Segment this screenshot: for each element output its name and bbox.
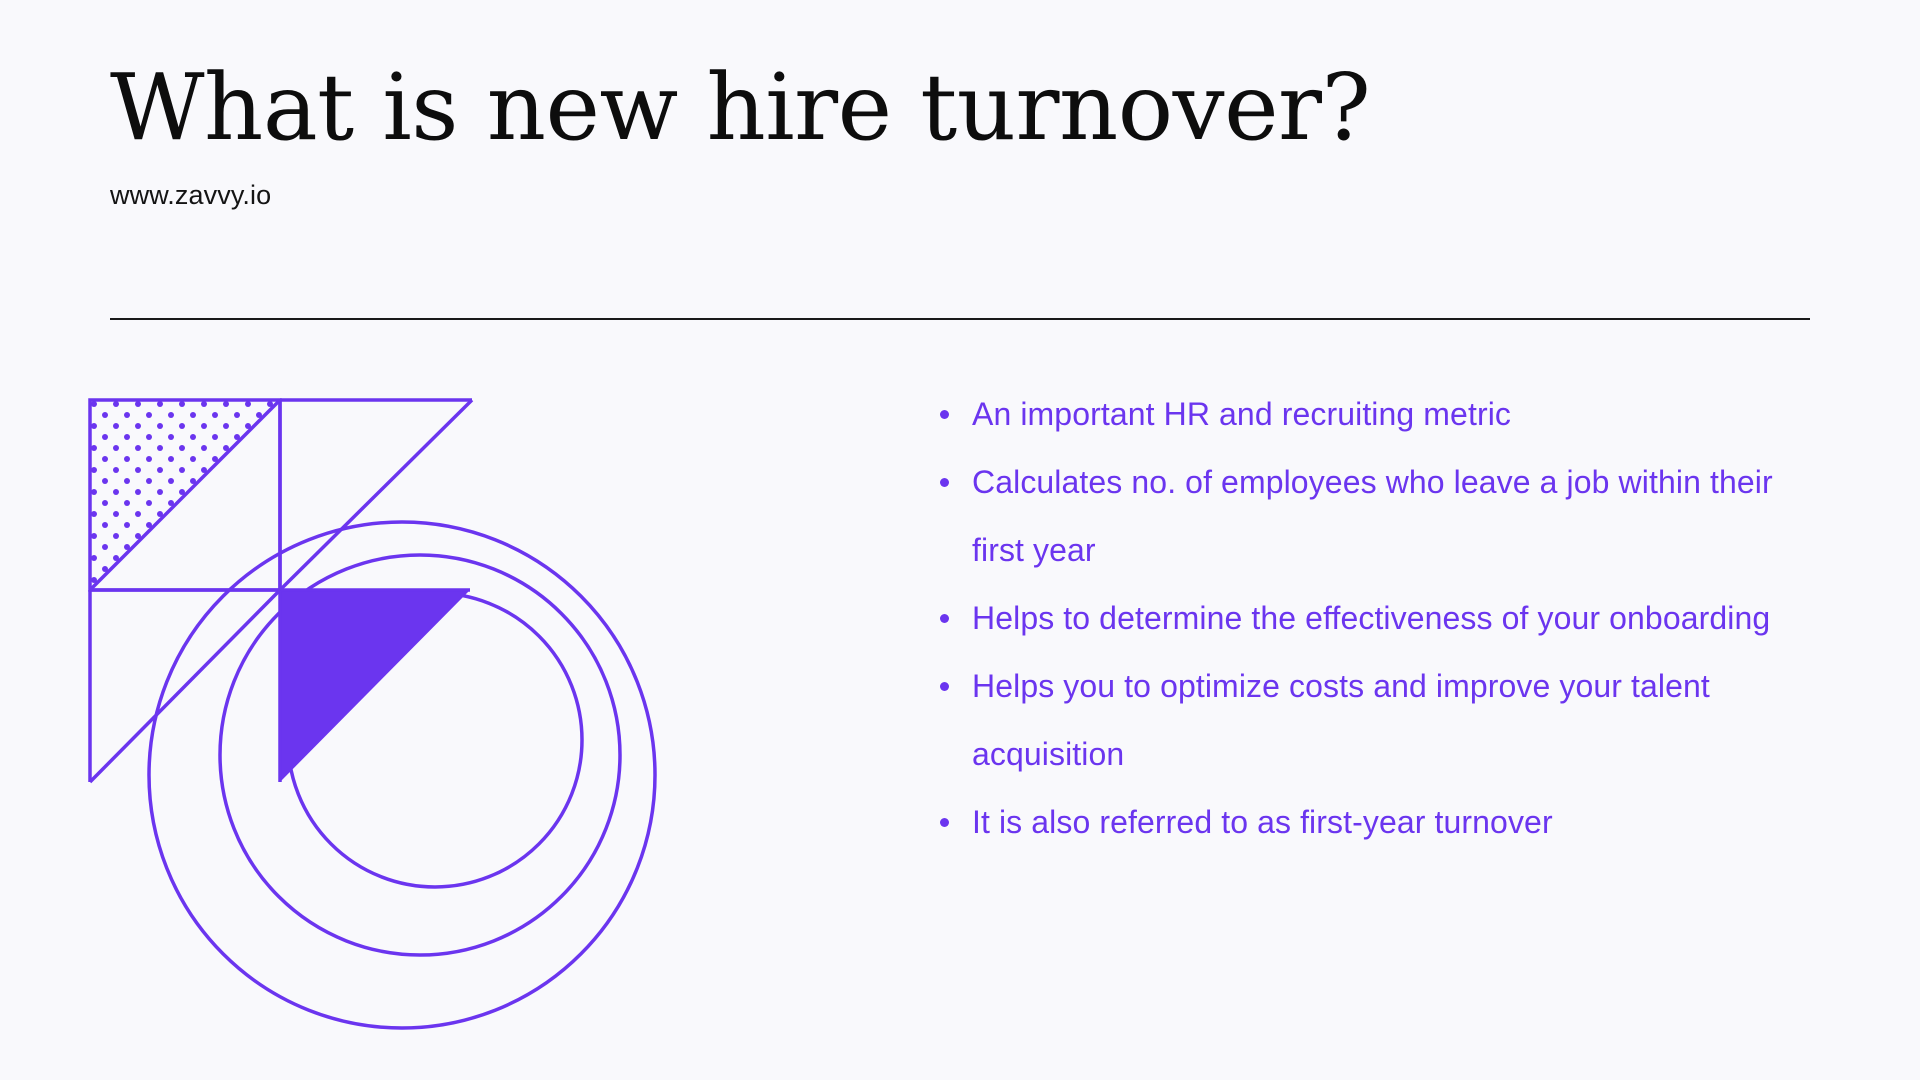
bullet-list-pane: An important HR and recruiting metric Ca… — [930, 380, 1790, 856]
site-url: www.zavvy.io — [110, 154, 1810, 211]
diagonal-bottom-left — [90, 590, 280, 782]
header: What is new hire turnover? www.zavvy.io — [110, 62, 1810, 211]
bullet-dot-icon — [940, 614, 949, 623]
filled-triangle — [280, 590, 470, 782]
geometric-graphic — [90, 400, 830, 1000]
list-item-text: Helps to determine the effectiveness of … — [972, 600, 1770, 636]
list-item-text: An important HR and recruiting metric — [972, 396, 1511, 432]
list-item-text: It is also referred to as first-year tur… — [972, 804, 1553, 840]
list-item: It is also referred to as first-year tur… — [930, 788, 1790, 856]
page-title: What is new hire turnover? — [110, 62, 1810, 154]
bullet-dot-icon — [940, 682, 949, 691]
list-item-text: Helps you to optimize costs and improve … — [972, 668, 1710, 772]
list-item: An important HR and recruiting metric — [930, 380, 1790, 448]
content-area: An important HR and recruiting metric Ca… — [0, 380, 1920, 1020]
list-item-text: Calculates no. of employees who leave a … — [972, 464, 1773, 568]
list-item: Calculates no. of employees who leave a … — [930, 448, 1790, 584]
slide-root: What is new hire turnover? www.zavvy.io — [0, 0, 1920, 1080]
list-item: Helps you to optimize costs and improve … — [930, 652, 1790, 788]
header-divider — [110, 318, 1810, 320]
bullet-dot-icon — [940, 478, 949, 487]
geometric-graphic-svg — [90, 400, 830, 1000]
bullet-dot-icon — [940, 410, 949, 419]
bullet-dot-icon — [940, 818, 949, 827]
bullet-list: An important HR and recruiting metric Ca… — [930, 380, 1790, 856]
list-item: Helps to determine the effectiveness of … — [930, 584, 1790, 652]
